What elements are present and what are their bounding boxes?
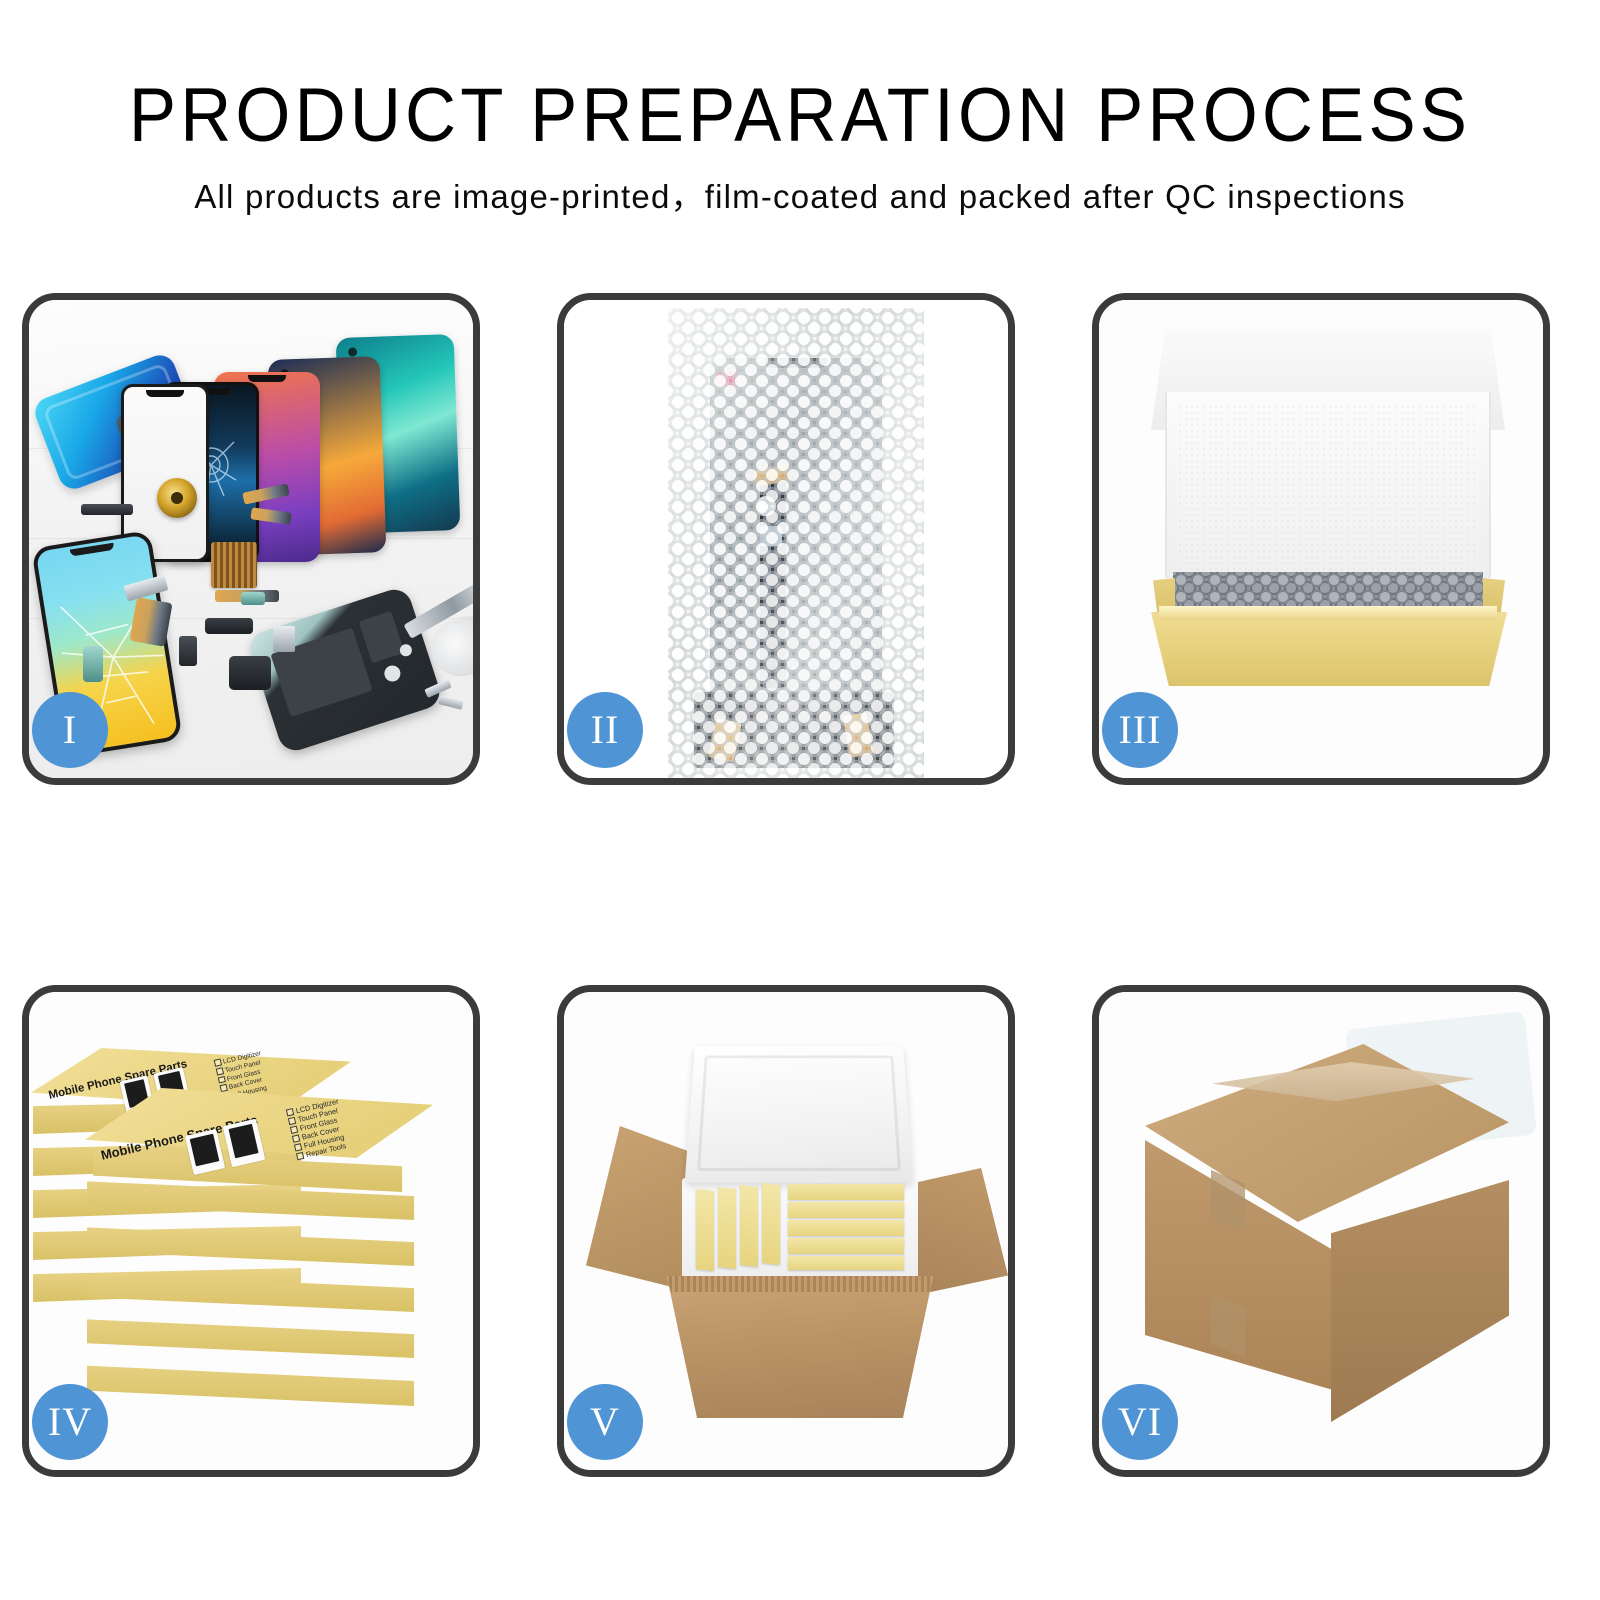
step-panel-frame: V (557, 985, 1015, 1477)
loudspeaker-module (205, 618, 253, 634)
step-panel-frame: II (557, 293, 1015, 785)
carton-body (668, 1282, 932, 1418)
bubble-wrap-gloss (668, 308, 924, 778)
earpiece-speaker-part (81, 504, 133, 515)
packed-retail-boxes (692, 1184, 908, 1270)
carton-rim (660, 1276, 940, 1292)
box-front-lip (1159, 606, 1497, 620)
step-badge-1: I (32, 692, 108, 768)
power-flex (179, 636, 197, 666)
ic-chip (211, 542, 257, 588)
step-card-1[interactable]: I (22, 293, 480, 785)
retail-box-front-6 (87, 1358, 435, 1406)
infographic-page: PRODUCT PREPARATION PROCESS All products… (0, 0, 1600, 1600)
step-badge-3: III (1102, 692, 1178, 768)
foam-box-lid (685, 1046, 914, 1183)
step-card-6[interactable]: VI (1092, 985, 1550, 1477)
step-panel-frame: III (1092, 293, 1550, 785)
retail-box-front-5 (87, 1312, 435, 1358)
step-badge-5: V (567, 1384, 643, 1460)
step-card-2[interactable]: II (557, 293, 1015, 785)
sim-tray (83, 646, 103, 682)
volume-button-flex (241, 592, 265, 605)
step-card-5[interactable]: V (557, 985, 1015, 1477)
step-badge-6: VI (1102, 1384, 1178, 1460)
wireless-charging-coil (157, 478, 197, 518)
camera-module (229, 656, 271, 690)
step-badge-2: II (567, 692, 643, 768)
retail-box-labeled-front: Mobile Phone Spare Parts LCD Digitizer T… (85, 1088, 433, 1184)
step-panel-frame: I (22, 293, 480, 785)
yellow-box-front (1151, 612, 1507, 686)
step-card-3[interactable]: III (1092, 293, 1550, 785)
retail-box-front-3 (87, 1220, 435, 1266)
vibration-motor (273, 626, 295, 652)
process-steps-grid: I II (0, 0, 1600, 1600)
white-foam-sheet (1177, 404, 1479, 580)
step-panel-frame: VI (1092, 985, 1550, 1477)
flex-cable-4 (129, 597, 172, 647)
step-badge-4: IV (32, 1384, 108, 1460)
retail-box-front-2 (87, 1174, 435, 1220)
step-card-4[interactable]: Mobile Phone Spare Parts LCD Digitizer T… (22, 985, 480, 1477)
step-panel-frame: Mobile Phone Spare Parts LCD Digitizer T… (22, 985, 480, 1477)
retail-box-front-4 (87, 1266, 435, 1312)
